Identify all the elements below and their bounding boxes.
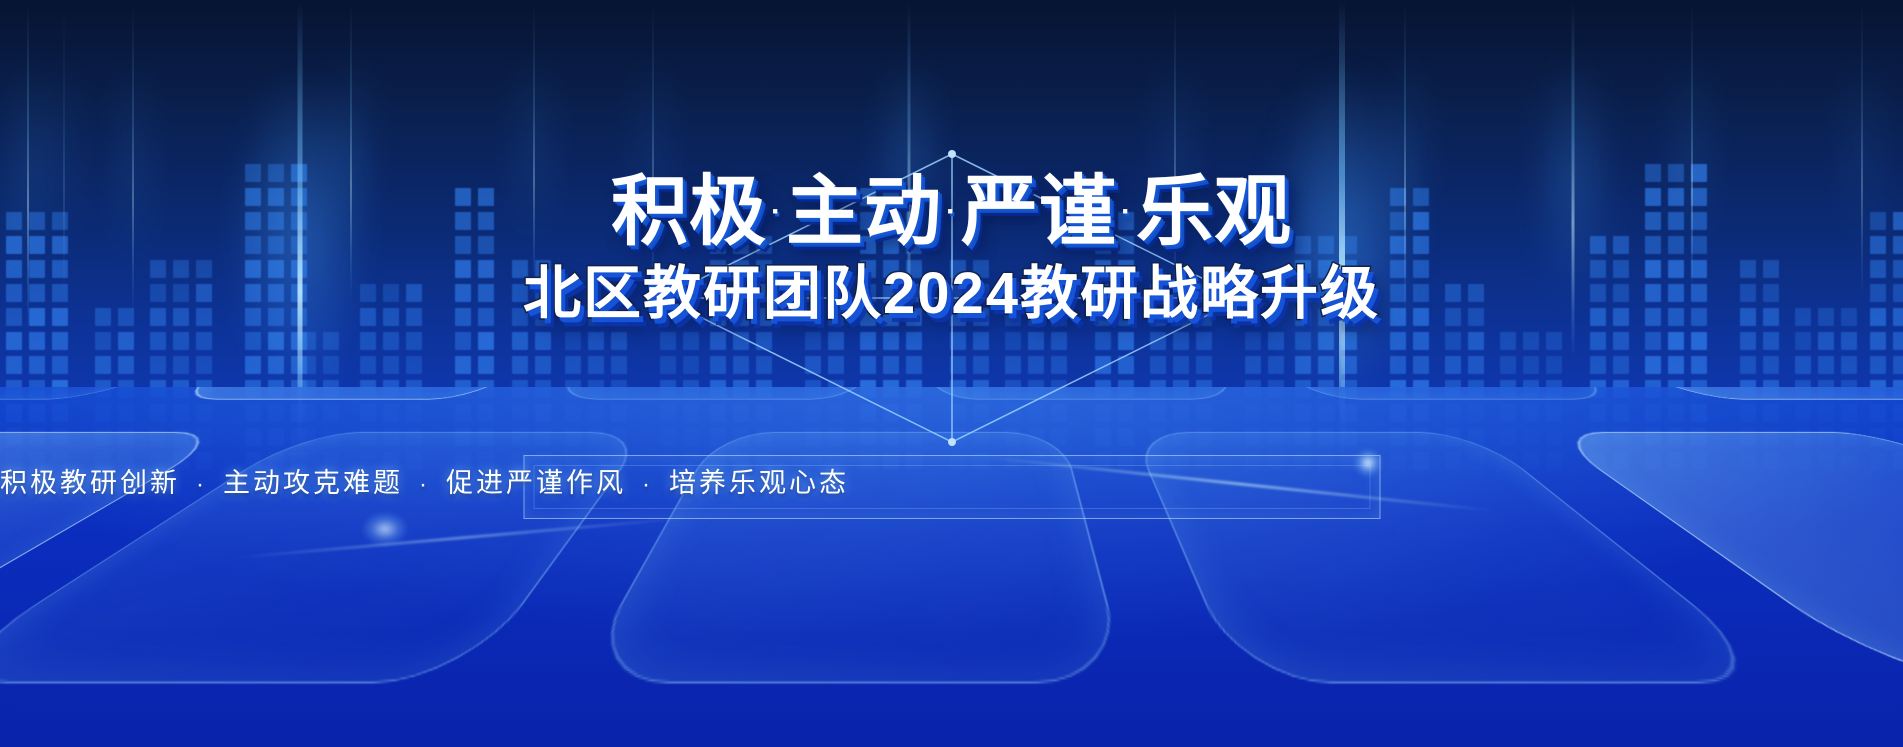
pixel-block bbox=[118, 332, 134, 350]
tagline-separator: · bbox=[642, 471, 653, 498]
pixel-block bbox=[906, 356, 922, 374]
pixel-block bbox=[478, 332, 494, 350]
pixel-block bbox=[683, 356, 699, 374]
pixel-block bbox=[29, 356, 45, 374]
pixel-block bbox=[683, 332, 699, 350]
pixel-block bbox=[1005, 332, 1021, 350]
tagline-item: 积极教研创新 bbox=[0, 468, 180, 498]
pixel-block bbox=[860, 356, 876, 374]
pixel-block bbox=[1413, 356, 1429, 374]
pixel-block bbox=[52, 332, 68, 350]
pixel-block bbox=[1590, 332, 1606, 350]
tagline-separator: · bbox=[419, 471, 430, 498]
pixel-block bbox=[710, 356, 726, 374]
pixel-block bbox=[733, 332, 749, 350]
pixel-block bbox=[1795, 356, 1811, 374]
pixel-block bbox=[1051, 332, 1067, 350]
pixel-block bbox=[455, 332, 471, 350]
pixel-block bbox=[1468, 356, 1484, 374]
pixel-block bbox=[1173, 356, 1189, 374]
pixel-block bbox=[1590, 356, 1606, 374]
pixel-block bbox=[1390, 356, 1406, 374]
headline-word: 积极 bbox=[611, 169, 767, 255]
pixel-block bbox=[1841, 332, 1857, 350]
floor-tile bbox=[926, 387, 1244, 400]
pixel-block bbox=[1668, 332, 1684, 350]
pixel-block bbox=[660, 332, 676, 350]
pixel-block bbox=[1118, 356, 1134, 374]
pixel-block bbox=[29, 332, 45, 350]
pixel-block bbox=[660, 356, 676, 374]
pixel-block bbox=[1740, 356, 1756, 374]
pixel-block bbox=[973, 356, 989, 374]
pixel-block bbox=[1645, 332, 1661, 350]
pixel-block bbox=[828, 332, 844, 350]
pixel-block bbox=[245, 332, 261, 350]
pixel-block bbox=[588, 356, 604, 374]
pixel-block bbox=[805, 356, 821, 374]
pixel-block bbox=[1645, 356, 1661, 374]
pixel-block bbox=[1818, 356, 1834, 374]
pixel-block bbox=[1295, 356, 1311, 374]
pixel-block bbox=[1005, 356, 1021, 374]
pixel-block bbox=[1763, 356, 1779, 374]
pixel-block bbox=[756, 332, 772, 350]
pixel-block bbox=[1763, 332, 1779, 350]
pixel-block bbox=[1668, 356, 1684, 374]
pixel-block bbox=[611, 356, 627, 374]
pixel-block bbox=[1740, 332, 1756, 350]
pixel-block bbox=[300, 332, 316, 350]
pixel-block bbox=[565, 332, 581, 350]
pixel-block bbox=[6, 332, 22, 350]
pixel-block bbox=[52, 356, 68, 374]
banner-subheadline: 北区教研团队2024教研战略升级 bbox=[0, 265, 1903, 323]
pixel-block bbox=[805, 332, 821, 350]
pixel-block bbox=[588, 332, 604, 350]
pixel-block bbox=[1795, 332, 1811, 350]
pixel-block bbox=[406, 332, 422, 350]
pixel-block bbox=[1118, 332, 1134, 350]
pixel-block bbox=[1468, 332, 1484, 350]
pixel-block bbox=[1150, 332, 1166, 350]
pixel-block bbox=[1028, 332, 1044, 350]
headline-separator: · bbox=[771, 195, 782, 228]
pixel-block bbox=[883, 332, 899, 350]
banner-tagline: 积极教研创新·主动攻克难题·促进严谨作风·培养乐观心态 bbox=[0, 470, 1903, 497]
pixel-block bbox=[1341, 356, 1357, 374]
pixel-block bbox=[733, 356, 749, 374]
pixel-block bbox=[1893, 356, 1903, 374]
pixel-block bbox=[1613, 332, 1629, 350]
pixel-block bbox=[1341, 332, 1357, 350]
pixel-block bbox=[1051, 356, 1067, 374]
pixel-block bbox=[323, 356, 339, 374]
pixel-block bbox=[478, 356, 494, 374]
pixel-block bbox=[1523, 356, 1539, 374]
tagline-item: 主动攻克难题 bbox=[223, 468, 403, 498]
floor-tile bbox=[162, 387, 602, 400]
pixel-block bbox=[173, 332, 189, 350]
pixel-block bbox=[1295, 332, 1311, 350]
pixel-block bbox=[406, 356, 422, 374]
pixel-block bbox=[860, 332, 876, 350]
pixel-block bbox=[1173, 332, 1189, 350]
pixel-block bbox=[1196, 332, 1212, 350]
pixel-block bbox=[828, 356, 844, 374]
pixel-block bbox=[1691, 332, 1707, 350]
headline-word: 乐观 bbox=[1136, 169, 1292, 255]
pixel-block bbox=[6, 356, 22, 374]
pixel-block bbox=[1523, 332, 1539, 350]
pixel-block bbox=[1893, 332, 1903, 350]
banner-headline: 积极·主动·严谨·乐观 bbox=[0, 174, 1903, 251]
pixel-block bbox=[1095, 332, 1111, 350]
headline-separator: · bbox=[1121, 195, 1132, 228]
banner-canvas: 积极·主动·严谨·乐观 北区教研团队2024教研战略升级 积极教研创新·主动攻克… bbox=[0, 0, 1903, 747]
tagline-item: 促进严谨作风 bbox=[446, 468, 626, 498]
pixel-block bbox=[1445, 356, 1461, 374]
pixel-block bbox=[1413, 332, 1429, 350]
pixel-block bbox=[1870, 332, 1886, 350]
pixel-block bbox=[1841, 356, 1857, 374]
pixel-block bbox=[268, 356, 284, 374]
pixel-block bbox=[383, 356, 399, 374]
pixel-block bbox=[1095, 356, 1111, 374]
pixel-block bbox=[173, 356, 189, 374]
pixel-block bbox=[268, 332, 284, 350]
pixel-block bbox=[1268, 356, 1284, 374]
pixel-block bbox=[611, 332, 627, 350]
pixel-block bbox=[1268, 332, 1284, 350]
pixel-block bbox=[756, 356, 772, 374]
pixel-block bbox=[565, 356, 581, 374]
pixel-block bbox=[973, 332, 989, 350]
pixel-block bbox=[535, 332, 551, 350]
pixel-block bbox=[1196, 356, 1212, 374]
pixel-block bbox=[1818, 332, 1834, 350]
pixel-block bbox=[1546, 332, 1562, 350]
pixel-block bbox=[245, 356, 261, 374]
pixel-block bbox=[1500, 332, 1516, 350]
pixel-block bbox=[323, 332, 339, 350]
pixel-block bbox=[950, 332, 966, 350]
pixel-block bbox=[1691, 356, 1707, 374]
pixel-block bbox=[710, 332, 726, 350]
pixel-block bbox=[1318, 332, 1334, 350]
pixel-block bbox=[150, 332, 166, 350]
pixel-block bbox=[360, 332, 376, 350]
pixel-block bbox=[360, 356, 376, 374]
pixel-block bbox=[1870, 356, 1886, 374]
pixel-block bbox=[906, 332, 922, 350]
pixel-block bbox=[1445, 332, 1461, 350]
pixel-block bbox=[95, 332, 111, 350]
floor-tile bbox=[544, 387, 885, 400]
pixel-block bbox=[1318, 356, 1334, 374]
pixel-block bbox=[455, 356, 471, 374]
tagline-separator: · bbox=[196, 471, 207, 498]
pixel-block bbox=[1390, 332, 1406, 350]
pixel-block bbox=[1500, 356, 1516, 374]
pixel-block bbox=[535, 356, 551, 374]
headline-word: 严谨 bbox=[961, 169, 1117, 255]
pixel-block bbox=[950, 356, 966, 374]
headline-word: 主动 bbox=[786, 169, 942, 255]
pixel-block bbox=[95, 356, 111, 374]
pixel-block bbox=[1028, 356, 1044, 374]
pixel-block bbox=[512, 332, 528, 350]
pixel-block bbox=[1245, 356, 1261, 374]
pixel-block bbox=[1150, 356, 1166, 374]
pixel-block bbox=[300, 356, 316, 374]
pixel-block bbox=[150, 356, 166, 374]
pixel-block bbox=[512, 356, 528, 374]
pixel-block bbox=[1613, 356, 1629, 374]
pixel-block bbox=[118, 356, 134, 374]
pixel-block bbox=[1245, 332, 1261, 350]
floor-tile bbox=[1216, 387, 1626, 400]
tagline-item: 培养乐观心态 bbox=[669, 468, 849, 498]
pixel-block bbox=[883, 356, 899, 374]
headline-separator: · bbox=[946, 195, 957, 228]
pixel-block bbox=[383, 332, 399, 350]
perspective-tile-floor bbox=[0, 387, 1903, 747]
pixel-block bbox=[196, 332, 212, 350]
pixel-block bbox=[196, 356, 212, 374]
pixel-block bbox=[1546, 356, 1562, 374]
